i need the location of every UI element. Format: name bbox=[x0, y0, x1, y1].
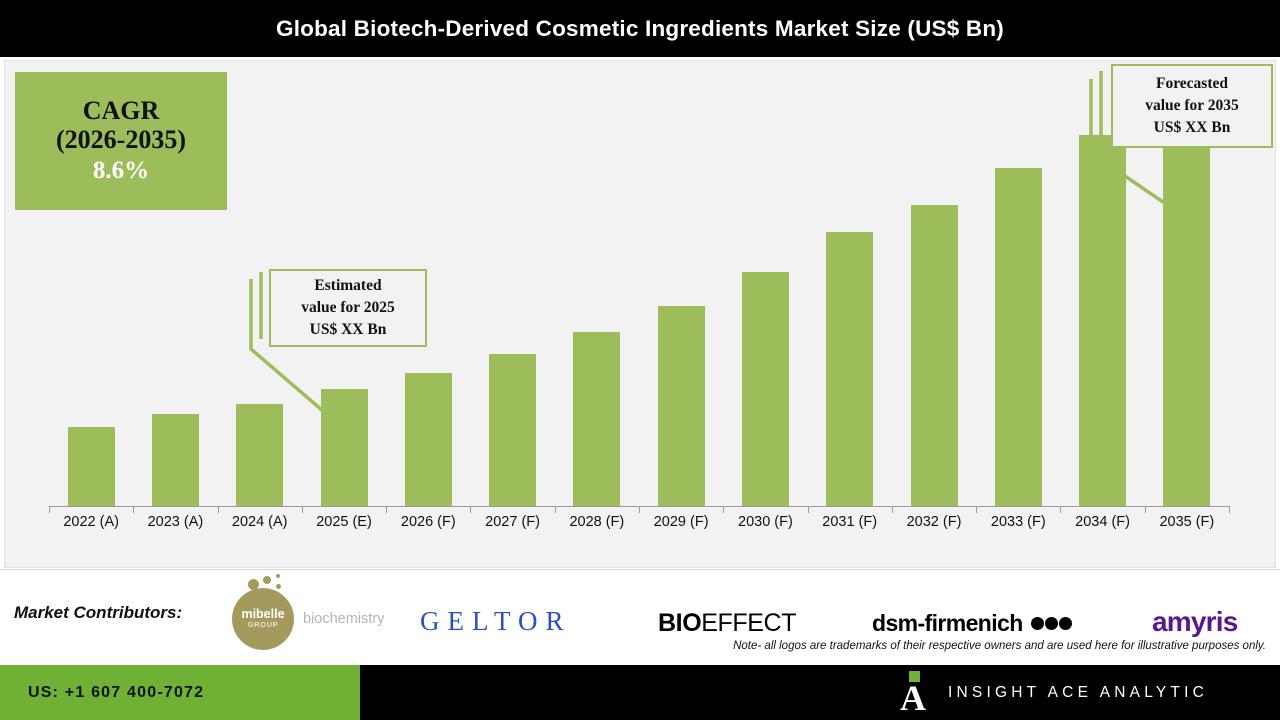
x-tick bbox=[470, 506, 471, 513]
x-label-2032F: 2032 (F) bbox=[891, 514, 977, 530]
trademark-note: Note- all logos are trademarks of their … bbox=[733, 640, 1266, 652]
x-tick bbox=[1229, 506, 1230, 513]
x-label-2024A: 2024 (A) bbox=[217, 514, 303, 530]
mibelle-mark-icon: mibelle GROUP bbox=[232, 588, 294, 650]
x-label-2022A: 2022 (A) bbox=[48, 514, 134, 530]
x-tick bbox=[892, 506, 893, 513]
x-label-2023A: 2023 (A) bbox=[132, 514, 218, 530]
bar-2032F bbox=[911, 205, 958, 506]
footer-bar: US: +1 607 400-7072 A INSIGHT ACE ANALYT… bbox=[0, 665, 1280, 720]
callout-fore-line2: value for 2035 bbox=[1145, 95, 1239, 117]
dsm-dots-icon bbox=[1031, 617, 1072, 630]
x-tick bbox=[639, 506, 640, 513]
mibelle-name: mibelle bbox=[241, 608, 284, 621]
cagr-value: 8.6% bbox=[93, 156, 149, 186]
bar-2029F bbox=[658, 306, 705, 506]
x-label-2028F: 2028 (F) bbox=[554, 514, 640, 530]
cagr-title: CAGR bbox=[83, 96, 160, 125]
mibelle-group: GROUP bbox=[248, 620, 279, 631]
x-label-2030F: 2030 (F) bbox=[722, 514, 808, 530]
page-title: Global Biotech-Derived Cosmetic Ingredie… bbox=[276, 16, 1004, 42]
logo-mibelle-biochemistry: mibelle GROUP biochemistry bbox=[232, 588, 384, 650]
insightace-logo-icon: A bbox=[900, 671, 930, 715]
x-tick bbox=[133, 506, 134, 513]
bar-2028F bbox=[573, 332, 620, 506]
x-tick bbox=[302, 506, 303, 513]
x-label-2029F: 2029 (F) bbox=[638, 514, 724, 530]
x-label-2034F: 2034 (F) bbox=[1060, 514, 1146, 530]
footer-brand-text: INSIGHT ACE ANALYTIC bbox=[948, 684, 1208, 702]
geltor-word: GELTOR bbox=[420, 606, 572, 637]
bar-2033F bbox=[995, 168, 1042, 506]
x-tick bbox=[723, 506, 724, 513]
bar-2026F bbox=[405, 373, 452, 506]
footer-brand: A INSIGHT ACE ANALYTIC bbox=[900, 665, 1208, 720]
chart-panel: 2022 (A)2023 (A)2024 (A)2025 (E)2026 (F)… bbox=[4, 60, 1276, 568]
infographic-root: Global Biotech-Derived Cosmetic Ingredie… bbox=[0, 0, 1280, 720]
bar-2024A bbox=[236, 404, 283, 506]
mibelle-biochemistry-word: biochemistry bbox=[303, 611, 384, 627]
logo-bioeffect: BIO EFFECT bbox=[658, 609, 796, 638]
logo-dsm-firmenich: dsm-firmenich bbox=[872, 610, 1072, 637]
title-bar: Global Biotech-Derived Cosmetic Ingredie… bbox=[0, 0, 1280, 57]
bar-2035F bbox=[1163, 86, 1210, 506]
x-tick bbox=[808, 506, 809, 513]
bioeffect-effect: EFFECT bbox=[701, 609, 796, 638]
dsm-firmenich-word: dsm-firmenich bbox=[872, 610, 1023, 637]
bar-2031F bbox=[826, 232, 873, 506]
x-label-2033F: 2033 (F) bbox=[975, 514, 1061, 530]
x-tick bbox=[49, 506, 50, 513]
bar-2022A bbox=[68, 427, 115, 506]
callout-fore-line1: Forecasted bbox=[1156, 73, 1228, 95]
bar-2030F bbox=[742, 272, 789, 506]
footer-phone[interactable]: US: +1 607 400-7072 bbox=[28, 684, 204, 702]
callout-est-line3: US$ XX Bn bbox=[310, 319, 387, 341]
x-tick bbox=[976, 506, 977, 513]
x-tick bbox=[555, 506, 556, 513]
bar-2023A bbox=[152, 414, 199, 506]
x-tick bbox=[1060, 506, 1061, 513]
x-label-2027F: 2027 (F) bbox=[470, 514, 556, 530]
x-tick bbox=[1145, 506, 1146, 513]
contributors-label: Market Contributors: bbox=[14, 603, 182, 623]
logo-amyris: amyris bbox=[1152, 606, 1238, 638]
x-tick bbox=[218, 506, 219, 513]
x-label-2026F: 2026 (F) bbox=[385, 514, 471, 530]
bar-2034F bbox=[1079, 135, 1126, 506]
x-label-2025E: 2025 (E) bbox=[301, 514, 387, 530]
x-tick bbox=[386, 506, 387, 513]
callout-est-line1: Estimated bbox=[314, 275, 381, 297]
callout-fore-line3: US$ XX Bn bbox=[1154, 117, 1231, 139]
bar-2025E bbox=[321, 389, 368, 506]
logo-geltor: GELTOR bbox=[420, 606, 572, 637]
bioeffect-bio: BIO bbox=[658, 609, 701, 638]
callout-est-line2: value for 2025 bbox=[301, 297, 395, 319]
x-label-2035F: 2035 (F) bbox=[1144, 514, 1230, 530]
footer-contact-block: US: +1 607 400-7072 bbox=[0, 665, 360, 720]
cagr-period: (2026-2035) bbox=[56, 125, 186, 154]
market-contributors-strip: Market Contributors: mibelle GROUP bioch… bbox=[0, 569, 1280, 665]
x-axis-labels: 2022 (A)2023 (A)2024 (A)2025 (E)2026 (F)… bbox=[49, 514, 1229, 544]
x-label-2031F: 2031 (F) bbox=[807, 514, 893, 530]
callout-estimated-2025: Estimated value for 2025 US$ XX Bn bbox=[269, 269, 427, 347]
callout-forecasted-2035: Forecasted value for 2035 US$ XX Bn bbox=[1111, 64, 1273, 148]
cagr-box: CAGR (2026-2035) 8.6% bbox=[15, 72, 227, 210]
bar-2027F bbox=[489, 354, 536, 506]
amyris-word: amyris bbox=[1152, 606, 1238, 638]
